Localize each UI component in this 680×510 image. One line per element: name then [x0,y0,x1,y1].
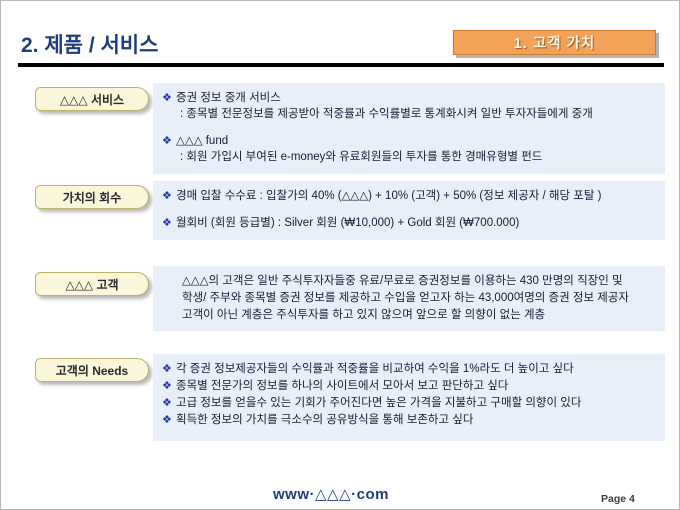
title-underline-rule [18,63,664,67]
bullet-body: 경매 입찰 수수료 : 입찰가의 40% (△△△) + 10% (고객) + … [176,188,657,204]
bullet-item: ❖ △△△ fund : 회원 가입시 부여된 e-money와 유료회원들의 … [162,133,657,165]
diamond-bullet-icon: ❖ [162,412,176,428]
bullet-item: ❖ 획득한 정보의 가치를 극소수의 공유방식을 통해 보존하고 싶다 [162,412,657,428]
section-label-service[interactable]: △△△ 서비스 [35,87,149,111]
section-label-text: △△△ 고객 [65,276,118,293]
diamond-bullet-icon: ❖ [162,215,176,231]
bullet-body: 각 증권 정보제공자들의 수익률과 적중률을 비교하여 수익을 1%라도 더 높… [176,361,657,377]
bullet-text: 종목별 전문가의 정보를 하나의 사이트에서 모아서 보고 판단하고 싶다 [176,378,657,394]
bullet-spacer [162,206,657,215]
section-label-customer-needs[interactable]: 고객의 Needs [35,358,149,382]
page-number: Page 4 [601,493,635,505]
bullet-body: 획득한 정보의 가치를 극소수의 공유방식을 통해 보존하고 싶다 [176,412,657,428]
diamond-bullet-icon: ❖ [162,378,176,394]
bullet-sub: : 회원 가입시 부여된 e-money와 유료회원들의 투자를 통한 경매유형… [176,149,657,165]
section-panel-customer-needs: ❖ 각 증권 정보제공자들의 수익률과 적중률을 비교하여 수익을 1%라도 더… [153,354,665,441]
bullet-head: △△△ fund [176,133,657,149]
bullet-item: ❖ 각 증권 정보제공자들의 수익률과 적중률을 비교하여 수익을 1%라도 더… [162,361,657,377]
diamond-bullet-icon: ❖ [162,90,176,106]
bullet-body: 고급 정보를 얻을수 있는 기회가 주어진다면 높은 가격을 지불하고 구매할 … [176,395,657,411]
section-label-text: △△△ 서비스 [60,91,124,108]
section-label-text: 고객의 Needs [56,362,128,379]
paragraph-line: 학생/ 주부와 종목별 증권 정보를 제공하고 수입을 얻고자 하는 43,00… [162,290,657,307]
bullet-body: 증권 정보 중개 서비스 : 종목별 전문정보를 제공받아 적중률과 수익률별로… [176,90,657,122]
section-panel-customer: △△△의 고객은 일반 주식투자자들중 유료/무료로 증권정보를 이용하는 43… [153,266,665,331]
bullet-text: 고급 정보를 얻을수 있는 기회가 주어진다면 높은 가격을 지불하고 구매할 … [176,395,657,411]
diamond-bullet-icon: ❖ [162,188,176,204]
section-label-text: 가치의 회수 [63,189,122,206]
bullet-body: 월회비 (회원 등급별) : Silver 회원 (₩10,000) + Gol… [176,215,657,231]
section-panel-value-recovery: ❖ 경매 입찰 수수료 : 입찰가의 40% (△△△) + 10% (고객) … [153,181,665,240]
bullet-sub: : 종목별 전문정보를 제공받아 적중률과 수익률별로 통계화시켜 일반 투자자… [176,106,657,122]
section-label-customer[interactable]: △△△ 고객 [35,272,149,296]
status-badge-label: 1. 고객 가치 [514,32,596,53]
diamond-bullet-icon: ❖ [162,361,176,377]
diamond-bullet-icon: ❖ [162,395,176,411]
presentation-slide: 2. 제품 / 서비스 1. 고객 가치 △△△ 서비스 ❖ 증권 정보 중개 … [0,0,680,510]
page-title: 2. 제품 / 서비스 [21,29,158,59]
diamond-bullet-icon: ❖ [162,133,176,149]
paragraph-line: △△△의 고객은 일반 주식투자자들중 유료/무료로 증권정보를 이용하는 43… [162,273,657,290]
bullet-body: △△△ fund : 회원 가입시 부여된 e-money와 유료회원들의 투자… [176,133,657,165]
section-label-value-recovery[interactable]: 가치의 회수 [35,185,149,209]
bullet-text: 획득한 정보의 가치를 극소수의 공유방식을 통해 보존하고 싶다 [176,412,657,428]
bullet-spacer [162,124,657,133]
paragraph-line: 고객이 아닌 계층은 주식투자를 하고 있지 않으며 앞으로 할 의향이 없는 … [162,307,657,324]
bullet-item: ❖ 경매 입찰 수수료 : 입찰가의 40% (△△△) + 10% (고객) … [162,188,657,204]
bullet-item: ❖ 증권 정보 중개 서비스 : 종목별 전문정보를 제공받아 적중률과 수익률… [162,90,657,122]
section-panel-service: ❖ 증권 정보 중개 서비스 : 종목별 전문정보를 제공받아 적중률과 수익률… [153,83,665,174]
bullet-text: 각 증권 정보제공자들의 수익률과 적중률을 비교하여 수익을 1%라도 더 높… [176,361,657,377]
bullet-head: 경매 입찰 수수료 : 입찰가의 40% (△△△) + 10% (고객) + … [176,188,657,204]
bullet-item: ❖ 고급 정보를 얻을수 있는 기회가 주어진다면 높은 가격을 지불하고 구매… [162,395,657,411]
status-badge: 1. 고객 가치 [453,30,656,55]
bullet-body: 종목별 전문가의 정보를 하나의 사이트에서 모아서 보고 판단하고 싶다 [176,378,657,394]
footer-url: www·△△△·com [273,485,389,503]
bullet-head: 증권 정보 중개 서비스 [176,90,657,106]
bullet-head: 월회비 (회원 등급별) : Silver 회원 (₩10,000) + Gol… [176,215,657,231]
bullet-item: ❖ 종목별 전문가의 정보를 하나의 사이트에서 모아서 보고 판단하고 싶다 [162,378,657,394]
bullet-item: ❖ 월회비 (회원 등급별) : Silver 회원 (₩10,000) + G… [162,215,657,231]
